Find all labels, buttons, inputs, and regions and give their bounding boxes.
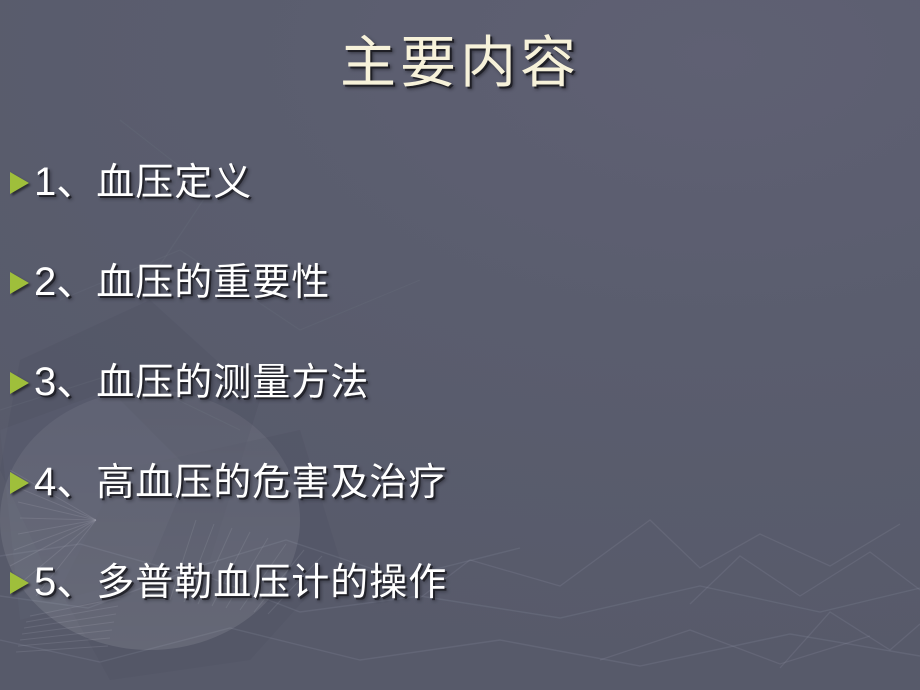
- slide-title-container: 主要内容: [0, 34, 920, 94]
- triangle-right-bullet-icon: [10, 372, 29, 394]
- list-item-number: 5、: [34, 560, 96, 604]
- list-item-label: 血压定义: [96, 162, 252, 204]
- list-item-text: 5、多普勒血压计的操作: [34, 559, 447, 606]
- list-item-number: 1、: [34, 160, 96, 204]
- triangle-right-bullet-icon: [10, 572, 29, 594]
- list-item-text: 4、高血压的危害及治疗: [34, 459, 447, 506]
- list-item-label: 血压的测量方法: [96, 362, 369, 404]
- list-item-number: 4、: [34, 460, 96, 504]
- list-item-number: 3、: [34, 360, 96, 404]
- triangle-right-bullet-icon: [10, 472, 29, 494]
- list-item-label: 血压的重要性: [96, 262, 330, 304]
- list-item: 5、多普勒血压计的操作: [0, 532, 920, 632]
- list-item-label: 多普勒血压计的操作: [96, 562, 447, 604]
- triangle-right-bullet-icon: [10, 272, 29, 294]
- list-item: 2、血压的重要性: [0, 232, 920, 332]
- bullet-list: 1、血压定义 2、血压的重要性 3、血压的测量方法 4、高血压的危害及治疗 5、…: [0, 132, 920, 632]
- list-item-label: 高血压的危害及治疗: [96, 462, 447, 504]
- list-item-text: 2、血压的重要性: [34, 259, 330, 306]
- list-item: 1、血压定义: [0, 132, 920, 232]
- triangle-right-bullet-icon: [10, 172, 29, 194]
- presentation-slide: 主要内容 1、血压定义 2、血压的重要性 3、血压的测量方法 4、高血压的危害及…: [0, 0, 920, 690]
- list-item: 3、血压的测量方法: [0, 332, 920, 432]
- list-item-number: 2、: [34, 260, 96, 304]
- list-item: 4、高血压的危害及治疗: [0, 432, 920, 532]
- list-item-text: 3、血压的测量方法: [34, 359, 369, 406]
- list-item-text: 1、血压定义: [34, 159, 252, 206]
- page-title: 主要内容: [340, 34, 580, 94]
